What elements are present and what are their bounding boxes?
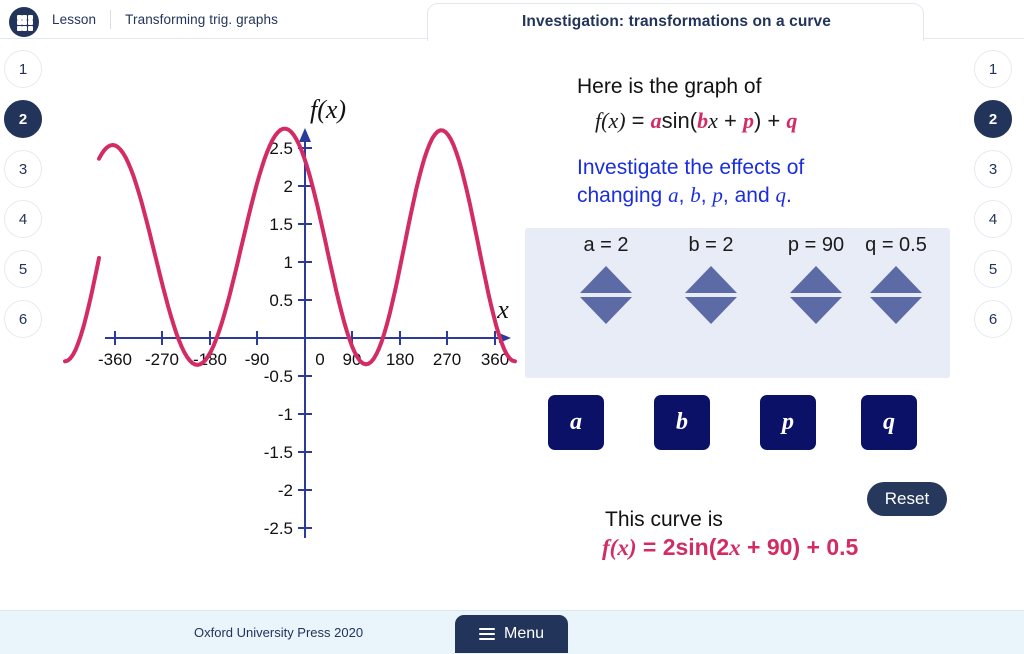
tab-investigation[interactable]: Investigation: transformations on a curv… xyxy=(427,3,924,41)
variable-button-a[interactable]: a xyxy=(548,395,604,450)
svg-text:-2.5: -2.5 xyxy=(264,519,293,538)
svg-text:-1.5: -1.5 xyxy=(264,443,293,462)
result-equation-x: x xyxy=(729,535,741,560)
menu-button-label: Menu xyxy=(504,625,544,643)
equation-b: b xyxy=(697,108,708,133)
investigate-var-p: p xyxy=(712,183,723,207)
parameter-value-b: b = 2 xyxy=(658,234,764,257)
increase-b-icon[interactable] xyxy=(685,266,737,293)
decrease-b-icon[interactable] xyxy=(685,297,737,324)
equation-plus-1: + xyxy=(724,108,737,133)
nav-left-item-2[interactable]: 2 xyxy=(4,100,42,138)
svg-text:-2: -2 xyxy=(278,481,293,500)
nav-right-item-1[interactable]: 1 xyxy=(974,50,1012,88)
decrease-q-icon[interactable] xyxy=(870,297,922,324)
svg-text:0: 0 xyxy=(315,350,324,369)
copyright-text: Oxford University Press 2020 xyxy=(194,625,363,640)
tab-title: Investigation: transformations on a curv… xyxy=(428,4,925,40)
nav-left-item-4[interactable]: 4 xyxy=(4,200,42,238)
nav-left-item-1[interactable]: 1 xyxy=(4,50,42,88)
svg-text:-1: -1 xyxy=(278,405,293,424)
equation-p: p xyxy=(743,108,754,133)
investigate-line-1: Investigate the effects of xyxy=(577,156,804,179)
increase-p-icon[interactable] xyxy=(790,266,842,293)
svg-text:2: 2 xyxy=(284,177,293,196)
breadcrumb-lesson[interactable]: Lesson xyxy=(52,12,96,27)
y-axis-label: f(x) xyxy=(310,95,346,124)
nav-left-item-5[interactable]: 5 xyxy=(4,250,42,288)
parameter-stepper-q xyxy=(843,266,949,324)
equation-sin: sin( xyxy=(662,108,697,133)
breadcrumb-separator xyxy=(110,10,111,29)
equation-close-paren: ) xyxy=(754,108,761,133)
investigate-sep-3: , and xyxy=(723,184,776,207)
page-nav-right: 1 2 3 4 5 6 xyxy=(974,50,1014,350)
curve-path xyxy=(99,129,515,365)
hamburger-icon xyxy=(479,628,495,640)
parameter-value-a: a = 2 xyxy=(553,234,659,257)
nav-left-item-6[interactable]: 6 xyxy=(4,300,42,338)
general-equation: f(x) = asin(bx + p) + q xyxy=(595,108,797,134)
menu-button[interactable]: Menu xyxy=(455,615,568,653)
y-axis-arrow xyxy=(299,128,311,142)
reset-button[interactable]: Reset xyxy=(867,482,947,516)
lesson-page: Lesson Transforming trig. graphs Investi… xyxy=(0,0,1024,653)
intro-text: Here is the graph of xyxy=(577,75,761,99)
increase-a-icon[interactable] xyxy=(580,266,632,293)
page-nav-left: 1 2 3 4 5 6 xyxy=(4,50,44,350)
nav-right-item-6[interactable]: 6 xyxy=(974,300,1012,338)
investigation-panel: Here is the graph of f(x) = asin(bx + p)… xyxy=(520,60,970,570)
parameter-stepper-b xyxy=(658,266,764,324)
curve-path-left xyxy=(65,258,99,361)
equation-q: q xyxy=(786,108,797,133)
parameter-stepper-a xyxy=(553,266,659,324)
decrease-p-icon[interactable] xyxy=(790,297,842,324)
variable-buttons: a b p q xyxy=(548,395,948,450)
x-tick-labels: -360 -270 -180 -90 0 90 180 270 360 xyxy=(98,350,509,369)
nav-left-item-3[interactable]: 3 xyxy=(4,150,42,188)
variable-button-p[interactable]: p xyxy=(760,395,816,450)
equation-plus-2: + xyxy=(767,108,780,133)
function-graph: -360 -270 -180 -90 0 90 180 270 360 2.5 … xyxy=(55,60,525,570)
investigate-sep-2: , xyxy=(701,184,713,207)
svg-text:1.5: 1.5 xyxy=(269,215,293,234)
grid-apps-icon[interactable] xyxy=(9,7,39,37)
svg-text:1: 1 xyxy=(284,253,293,272)
nav-right-item-5[interactable]: 5 xyxy=(974,250,1012,288)
breadcrumb: Lesson Transforming trig. graphs xyxy=(52,9,278,29)
parameter-value-q: q = 0.5 xyxy=(843,234,949,257)
nav-right-item-2[interactable]: 2 xyxy=(974,100,1012,138)
svg-text:270: 270 xyxy=(433,350,461,369)
decrease-a-icon[interactable] xyxy=(580,297,632,324)
axes xyxy=(105,138,505,538)
parameter-control-q: q = 0.5 xyxy=(843,228,949,378)
svg-text:0.5: 0.5 xyxy=(269,291,293,310)
increase-q-icon[interactable] xyxy=(870,266,922,293)
equation-a: a xyxy=(651,108,662,133)
svg-text:-270: -270 xyxy=(145,350,179,369)
result-equation-mid: = 2sin(2 xyxy=(636,534,729,560)
variable-button-q[interactable]: q xyxy=(861,395,917,450)
result-equation: f(x) = 2sin(2x + 90) + 0.5 xyxy=(602,534,858,561)
svg-text:-0.5: -0.5 xyxy=(264,367,293,386)
x-axis-label: x xyxy=(496,295,509,324)
parameter-control-b: b = 2 xyxy=(658,228,764,378)
variable-button-b[interactable]: b xyxy=(654,395,710,450)
parameter-controls-panel: a = 2 b = 2 p = 90 xyxy=(525,228,950,378)
investigate-sep-1: , xyxy=(679,184,691,207)
graph-svg: -360 -270 -180 -90 0 90 180 270 360 2.5 … xyxy=(55,60,525,570)
investigate-var-q: q xyxy=(775,183,786,207)
nav-right-item-4[interactable]: 4 xyxy=(974,200,1012,238)
result-equation-lhs: f(x) xyxy=(602,535,636,560)
investigate-var-a: a xyxy=(668,183,679,207)
equation-lhs: f(x) xyxy=(595,108,626,133)
investigate-var-b: b xyxy=(690,183,701,207)
investigate-line-2-prefix: changing xyxy=(577,184,668,207)
equation-equals: = xyxy=(632,108,645,133)
result-label: This curve is xyxy=(605,508,723,532)
parameter-control-a: a = 2 xyxy=(553,228,659,378)
investigate-period: . xyxy=(786,184,792,207)
investigate-instruction: Investigate the effects of changing a, b… xyxy=(577,154,877,209)
breadcrumb-current[interactable]: Transforming trig. graphs xyxy=(125,12,278,27)
result-equation-rest: + 90) + 0.5 xyxy=(741,534,859,560)
svg-text:180: 180 xyxy=(386,350,414,369)
nav-right-item-3[interactable]: 3 xyxy=(974,150,1012,188)
svg-text:-360: -360 xyxy=(98,350,132,369)
equation-x: x xyxy=(708,108,718,133)
